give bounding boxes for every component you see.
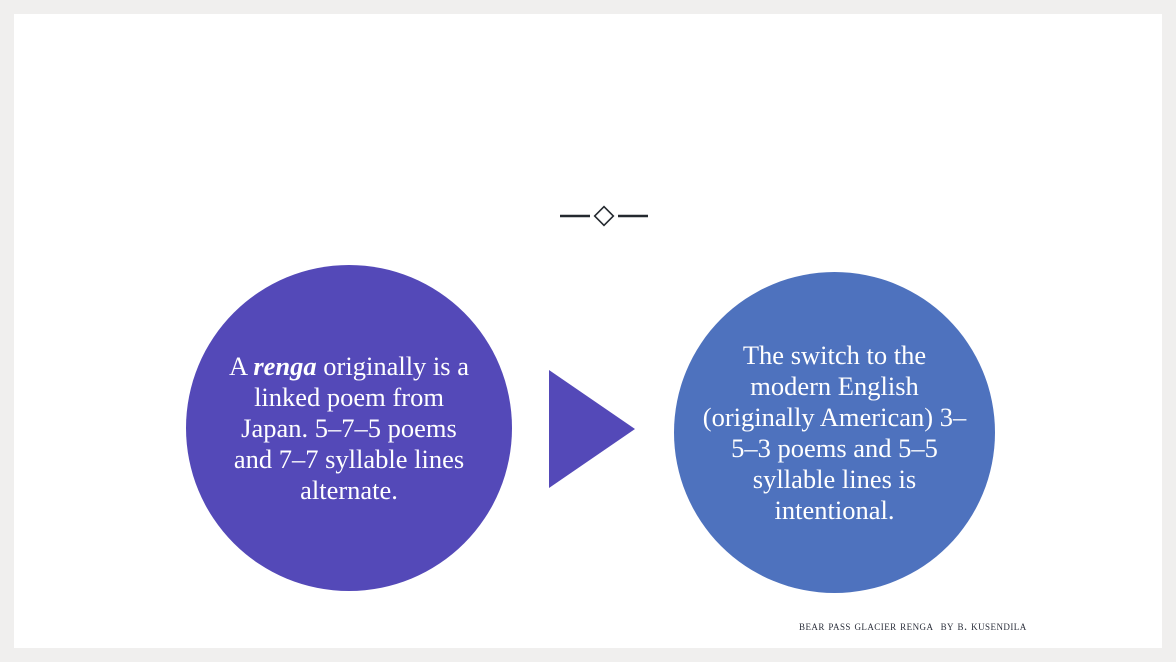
bubble-left-text-segment-1: A: [229, 351, 253, 381]
bubble-left-renga-definition[interactable]: A renga originally is a linked poem from…: [186, 265, 512, 591]
slide-canvas: A renga originally is a linked poem from…: [14, 14, 1162, 648]
bubble-right-text: The switch to the modern English (origin…: [674, 340, 995, 526]
footer-caption: BEAR PASS GLACIER RENGA BY B. KUSENDILA: [799, 619, 1027, 634]
diamond-divider-ornament: [546, 204, 662, 228]
bubble-left-text-emphasis: renga: [253, 351, 316, 381]
right-triangle-arrow-icon: [544, 366, 656, 492]
bubble-right-modern-english[interactable]: The switch to the modern English (origin…: [674, 272, 995, 593]
bubble-left-text: A renga originally is a linked poem from…: [186, 351, 512, 506]
